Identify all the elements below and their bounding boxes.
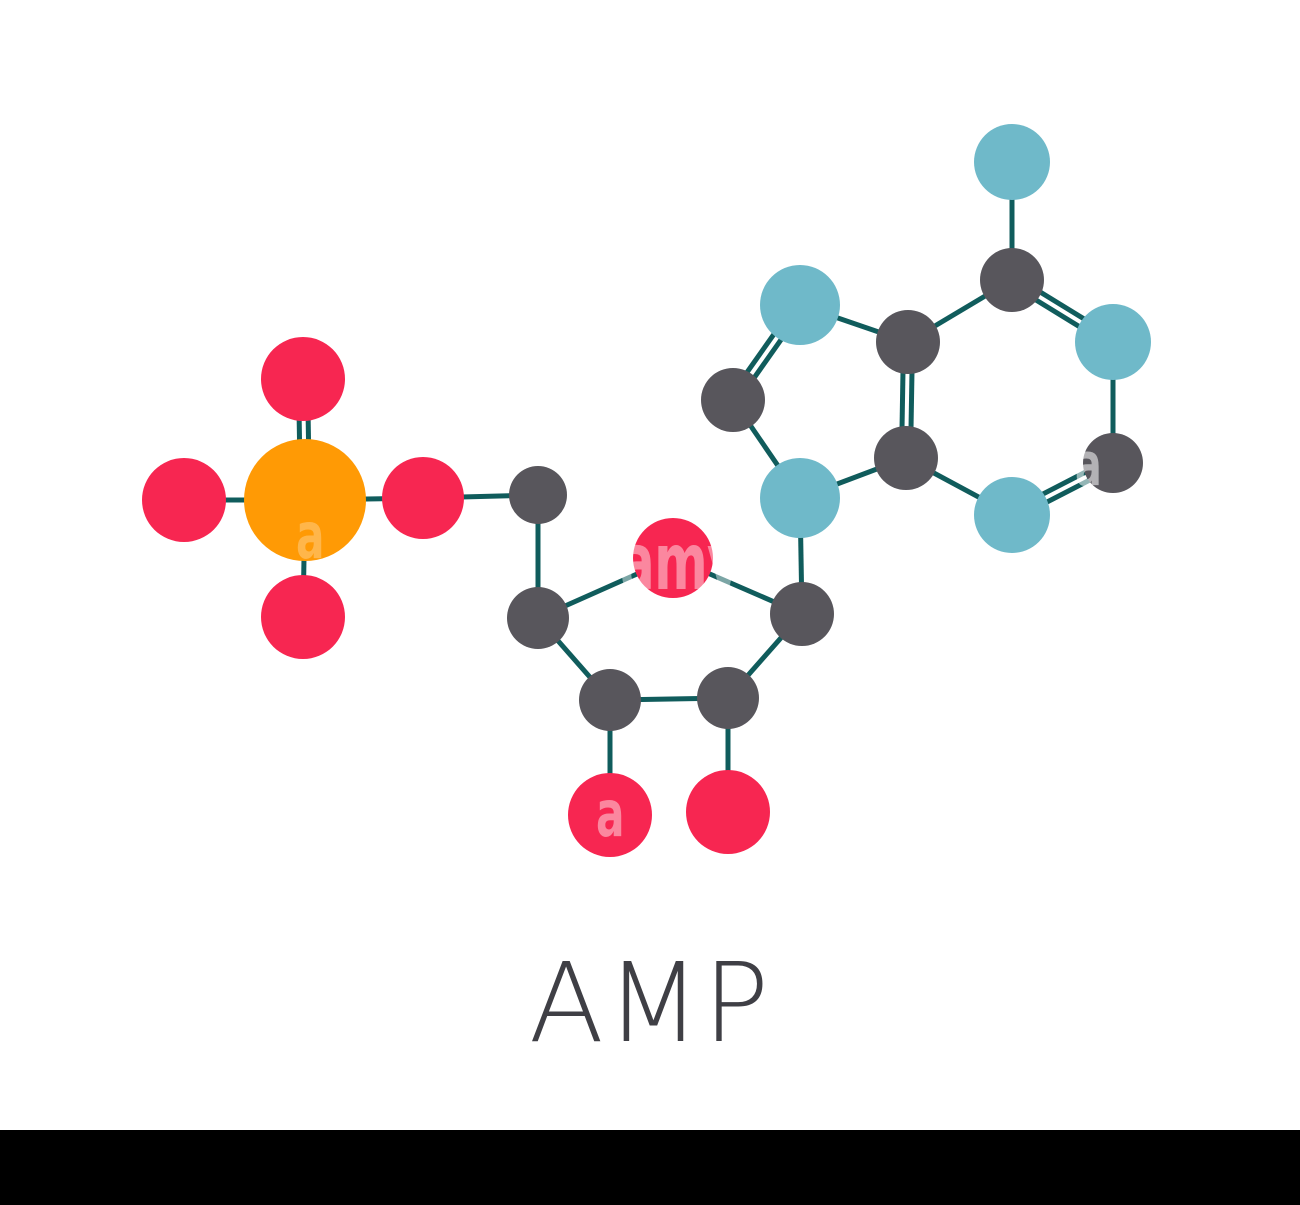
atom-oxygen-O3p xyxy=(568,773,652,857)
atom-nitrogen-N6 xyxy=(974,124,1050,200)
molecule-canvas: amy a a a AMP xyxy=(0,0,1300,1130)
atom-nitrogen-N1 xyxy=(1075,304,1151,380)
molecule-name-label: AMP xyxy=(0,948,1300,1058)
atom-nitrogen-N3 xyxy=(974,477,1050,553)
atom-carbon-C5 xyxy=(876,310,940,374)
atom-carbon-C2p xyxy=(697,667,759,729)
atom-carbon-C8 xyxy=(701,368,765,432)
atom-oxygen-O5p xyxy=(382,457,464,539)
atom-carbon-C3p xyxy=(579,669,641,731)
atom-oxygen-O2p xyxy=(686,770,770,854)
atom-carbon-C4 xyxy=(874,426,938,490)
atom-carbon-C1p xyxy=(770,582,834,646)
atom-oxygen-O1 xyxy=(261,337,345,421)
atom-layer xyxy=(142,124,1151,857)
atom-carbon-C5p xyxy=(509,466,567,524)
atom-nitrogen-N7 xyxy=(760,265,840,345)
atom-phosphorus-P1 xyxy=(244,439,366,561)
screenshot-root: amy a a a AMP alamy Image ID: 2C9JRBY ww… xyxy=(0,0,1300,1205)
atom-nitrogen-N9 xyxy=(760,458,840,538)
alamy-footer-bar: alamy Image ID: 2C9JRBY www.alamy.com xyxy=(0,1130,1300,1205)
atom-oxygen-O2 xyxy=(142,458,226,542)
atom-oxygen-O3 xyxy=(261,575,345,659)
atom-oxygen-O4p xyxy=(633,518,713,598)
atom-carbon-C6 xyxy=(980,248,1044,312)
atom-carbon-C2 xyxy=(1083,433,1143,493)
atom-carbon-C4p xyxy=(507,587,569,649)
